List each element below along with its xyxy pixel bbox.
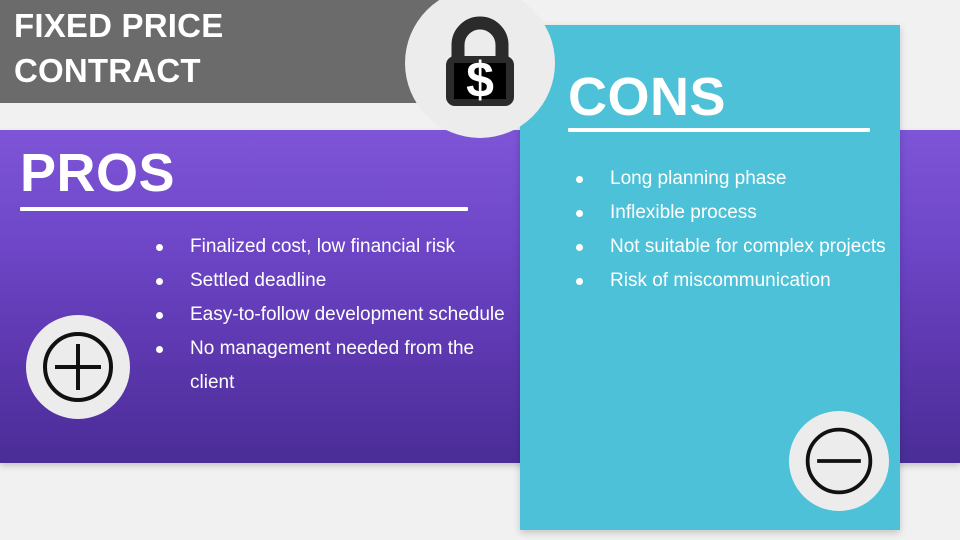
dollar-symbol: $ (466, 52, 494, 108)
pros-plus-badge (26, 315, 130, 419)
list-item: Easy-to-follow development schedule (148, 298, 508, 332)
list-item: Not suitable for complex projects (568, 230, 888, 264)
cons-list: Long planning phase Inflexible process N… (568, 162, 888, 298)
list-item: Finalized cost, low financial risk (148, 230, 508, 264)
lock-dollar-icon: $ (428, 11, 532, 115)
pros-divider (20, 207, 468, 211)
minus-circle-icon (801, 423, 877, 499)
title-bar: FIXED PRICE CONTRACT (0, 0, 470, 103)
plus-circle-icon (38, 327, 118, 407)
cons-minus-badge (789, 411, 889, 511)
pros-list: Finalized cost, low financial risk Settl… (148, 230, 508, 400)
list-item: No management needed from the client (148, 332, 508, 400)
list-item: Inflexible process (568, 196, 888, 230)
pros-heading: PROS (20, 144, 175, 202)
cons-heading: CONS (568, 68, 726, 126)
page-title: FIXED PRICE CONTRACT (14, 3, 344, 93)
slide-canvas: FIXED PRICE CONTRACT PROS Finalized cost… (0, 0, 960, 540)
cons-divider (568, 128, 870, 132)
list-item: Long planning phase (568, 162, 888, 196)
list-item: Settled deadline (148, 264, 508, 298)
list-item: Risk of miscommunication (568, 264, 888, 298)
